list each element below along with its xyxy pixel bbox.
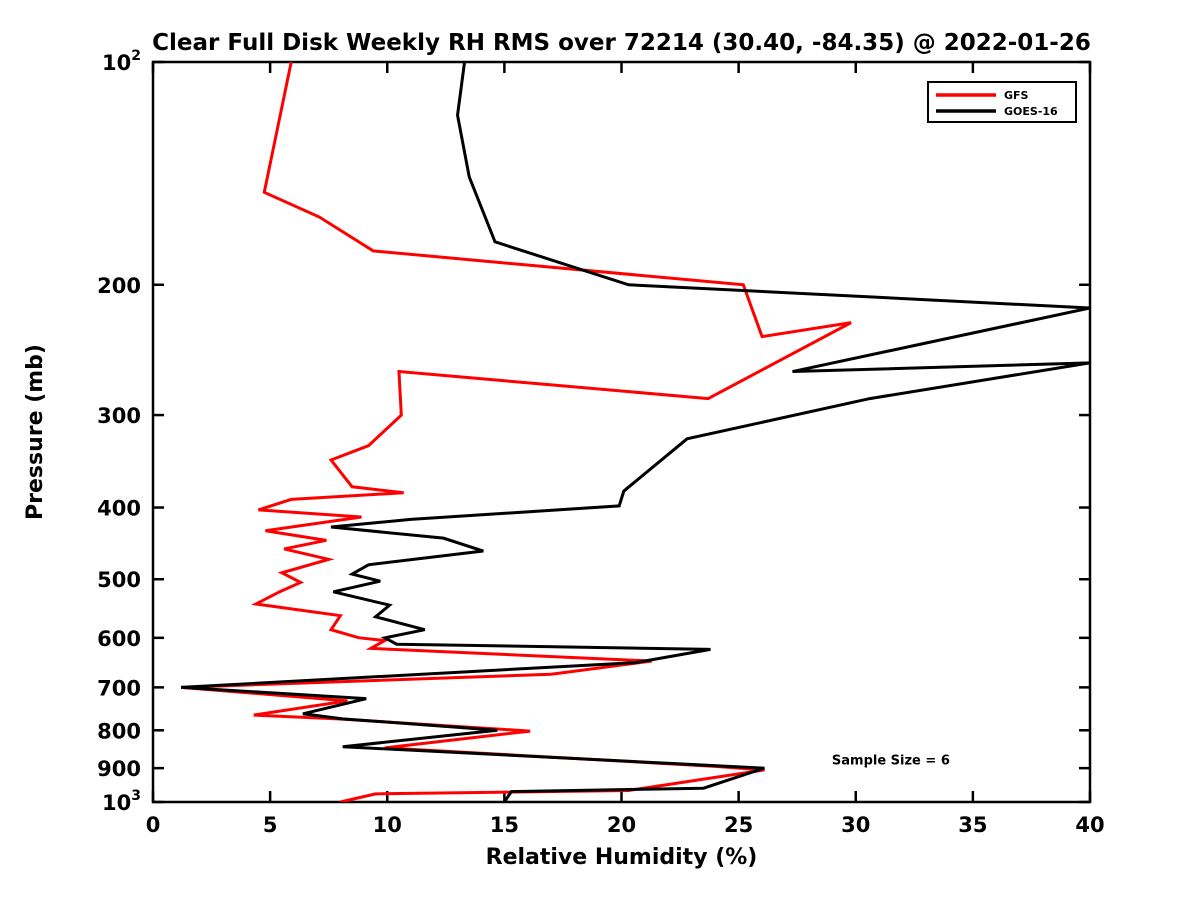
legend-label-gfs: GFS	[1004, 89, 1029, 102]
y-tick-label: 900	[97, 757, 141, 781]
rh-rms-profile-chart: Clear Full Disk Weekly RH RMS over 72214…	[0, 0, 1200, 900]
series-line-goes-16	[181, 62, 1090, 802]
x-axis-label: Relative Humidity (%)	[486, 845, 758, 870]
y-axis-label: Pressure (mb)	[23, 344, 48, 520]
y-tick-label: 500	[97, 568, 141, 592]
chart-title: Clear Full Disk Weekly RH RMS over 72214…	[152, 30, 1091, 56]
x-tick-label: 35	[958, 813, 987, 837]
plot-frame	[153, 62, 1090, 802]
y-tick-label: 200	[97, 274, 141, 298]
x-tick-label: 15	[490, 813, 519, 837]
y-tick-label: 300	[97, 404, 141, 428]
y-tick-label: 400	[97, 497, 141, 521]
x-tick-label: 20	[607, 813, 636, 837]
annotation-sample-size: Sample Size = 6	[832, 754, 950, 769]
y-tick-label: 800	[97, 719, 141, 743]
y-tick-label: 600	[97, 627, 141, 651]
x-tick-label: 0	[146, 813, 161, 837]
y-tick-label: 103	[102, 788, 141, 815]
x-tick-label: 25	[724, 813, 753, 837]
chart-page: Clear Full Disk Weekly RH RMS over 72214…	[0, 0, 1200, 900]
x-tick-label: 40	[1075, 813, 1104, 837]
y-tick-label: 700	[97, 676, 141, 700]
legend-label-goes-16: GOES-16	[1004, 105, 1058, 118]
y-tick-label: 102	[102, 48, 141, 75]
x-tick-label: 10	[373, 813, 402, 837]
x-tick-label: 30	[841, 813, 870, 837]
series-line-gfs	[181, 62, 851, 802]
x-tick-label: 5	[263, 813, 278, 837]
